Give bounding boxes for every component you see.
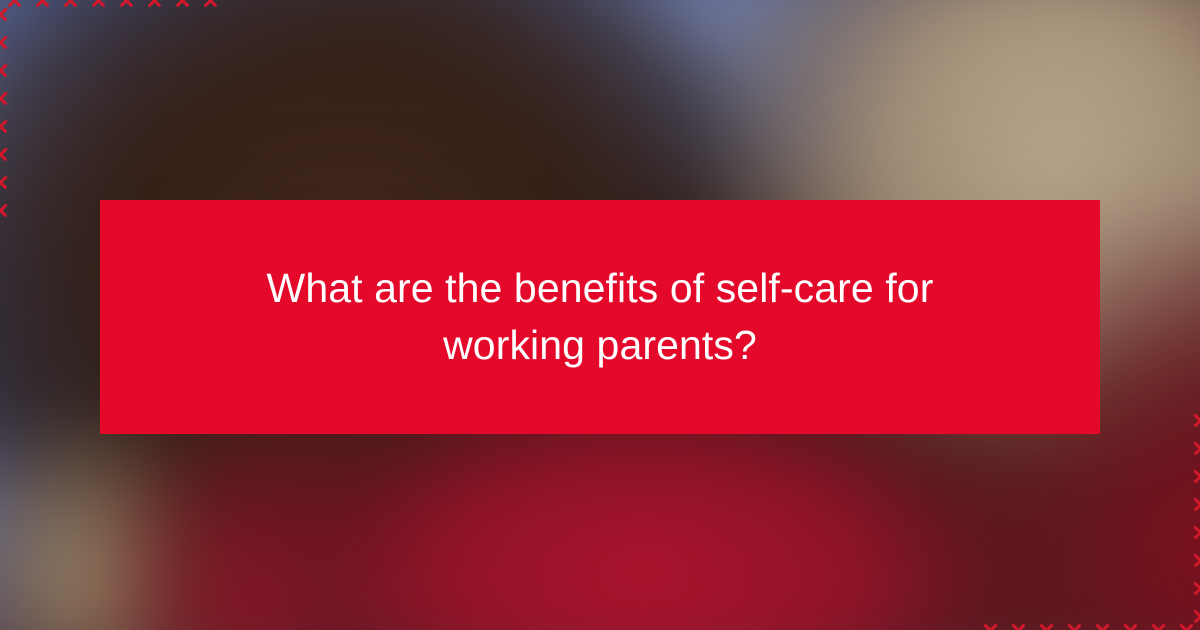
x-mark-icon: [1004, 616, 1032, 630]
x-mark-icon: [0, 140, 14, 168]
x-mark-icon: [0, 84, 14, 112]
x-mark-icon: [1186, 434, 1200, 462]
x-mark-icon: [0, 196, 14, 224]
x-mark-icon: [1186, 406, 1200, 434]
x-mark-icon: [1088, 616, 1116, 630]
x-mark-icon: [1186, 546, 1200, 574]
x-mark-icon: [1186, 462, 1200, 490]
x-mark-icon: [0, 56, 14, 84]
x-mark-icon: [1186, 574, 1200, 602]
x-mark-icon: [84, 0, 112, 14]
page-title: What are the benefits of self-care for w…: [250, 260, 950, 373]
x-mark-icon: [1186, 518, 1200, 546]
ornament-x-row-top: [0, 0, 224, 14]
x-mark-icon: [976, 616, 1004, 630]
x-mark-icon: [1060, 616, 1088, 630]
x-mark-icon: [168, 0, 196, 14]
x-mark-icon: [196, 0, 224, 14]
ornament-x-column-left: [0, 0, 14, 224]
x-mark-icon: [1144, 616, 1172, 630]
x-mark-icon: [0, 0, 14, 28]
x-mark-icon: [0, 28, 14, 56]
x-mark-icon: [1186, 490, 1200, 518]
ornament-x-column-right: [1186, 406, 1200, 630]
x-mark-icon: [1032, 616, 1060, 630]
ornament-x-row-bottom: [976, 616, 1200, 630]
x-mark-icon: [56, 0, 84, 14]
x-mark-icon: [1116, 616, 1144, 630]
x-mark-icon: [140, 0, 168, 14]
x-mark-icon: [1172, 616, 1200, 630]
headline-banner: What are the benefits of self-care for w…: [100, 200, 1100, 434]
x-mark-icon: [28, 0, 56, 14]
x-mark-icon: [0, 0, 28, 14]
x-mark-icon: [0, 168, 14, 196]
x-mark-icon: [1186, 602, 1200, 630]
x-mark-icon: [0, 112, 14, 140]
question-card: What are the benefits of self-care for w…: [0, 0, 1200, 630]
x-mark-icon: [112, 0, 140, 14]
